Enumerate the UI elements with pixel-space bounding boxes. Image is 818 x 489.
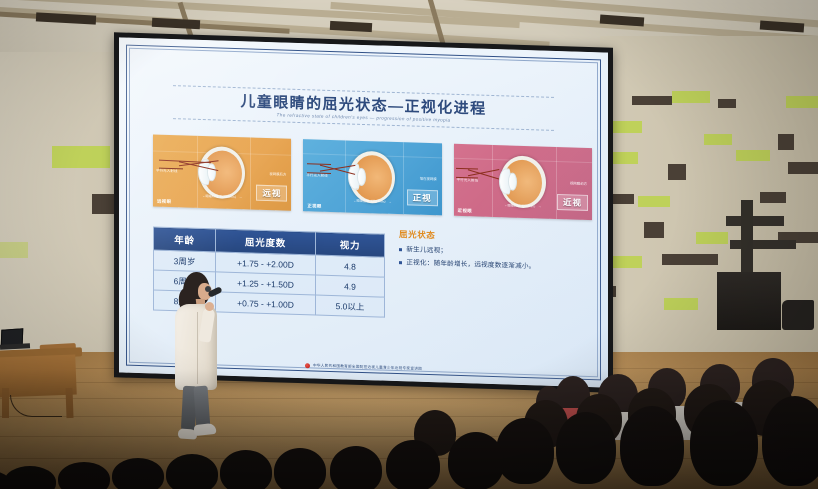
list-item — [496, 418, 554, 484]
column-header-acuity: 视力 — [316, 232, 385, 257]
cell-acuity: 4.9 — [316, 275, 385, 297]
list-item — [556, 412, 616, 484]
status-badge: 近视 — [557, 194, 588, 211]
panel-label-left: 平行光入射线 — [457, 177, 479, 183]
list-item — [690, 400, 758, 486]
list-item — [448, 432, 504, 489]
panel-name: 远视眼 — [157, 199, 171, 205]
list-item — [166, 454, 218, 489]
panel-label-right: 视网膜前方 — [570, 180, 587, 186]
list-item — [762, 396, 818, 486]
bag — [782, 300, 814, 330]
panel-myopia[interactable]: 平行光入射线 视网膜前方 眼轴较长（>24mm） 近视眼 近视 — [454, 144, 592, 220]
bullet-square-icon — [399, 261, 402, 264]
cell-acuity: 4.8 — [316, 255, 385, 277]
panel-name: 正视眼 — [307, 203, 321, 209]
microphone-head-icon — [205, 286, 211, 292]
column-header-age: 年龄 — [154, 227, 216, 252]
panel-name: 近视眼 — [458, 208, 472, 214]
panel-label-left: 平行光入射线 — [306, 172, 328, 178]
list-item-label: 正视化：随年龄增长，远视度数逐渐减小。 — [406, 259, 535, 273]
notes-block: 屈光状态 新生儿远视； 正视化：随年龄增长，远视度数逐渐减小。 — [399, 228, 579, 277]
status-badge: 远视 — [256, 185, 287, 202]
list-item — [58, 462, 110, 489]
panel-label-right: 落在视网膜 — [420, 176, 437, 182]
eye-diagram-panels: 平行光入射线 视网膜后方 眼轴较短（<23.5mm） 远视眼 远视 — [153, 134, 592, 220]
panel-emmetropia[interactable]: 平行光入射线 落在视网膜 眼轴正常（约24mm） 正视眼 正视 — [303, 139, 441, 215]
eye-diagram-icon — [349, 151, 395, 204]
left-wall-section — [0, 52, 128, 352]
status-badge: 正视 — [407, 189, 438, 206]
list-item — [386, 440, 440, 489]
cell-diopter: +0.75 - +1.00D — [216, 292, 316, 315]
column-header-diopter: 屈光度数 — [216, 229, 316, 255]
list-item — [274, 448, 326, 489]
list-item — [620, 406, 684, 486]
audience — [0, 354, 818, 489]
list-item — [330, 446, 382, 489]
panel-label-left: 平行光入射线 — [156, 168, 178, 174]
bullet-square-icon — [399, 248, 402, 251]
list-item — [220, 450, 272, 489]
list-item-label: 新生儿远视； — [406, 245, 447, 256]
panel-hyperopia[interactable]: 平行光入射线 视网膜后方 眼轴较短（<23.5mm） 远视眼 远视 — [153, 134, 291, 210]
eye-diagram-icon — [199, 146, 245, 199]
lecture-hall-photo: 儿童眼睛的屈光状态—正视化进程 The refractive state of … — [0, 0, 818, 489]
cell-age: 3周岁 — [154, 250, 216, 272]
eye-diagram-icon — [500, 155, 546, 208]
panel-label-right: 视网膜后方 — [269, 171, 286, 177]
list-item — [112, 458, 164, 489]
hand — [205, 302, 214, 311]
list-item: 正视化：随年龄增长，远视度数逐渐减小。 — [399, 258, 579, 274]
cell-acuity: 5.0以上 — [316, 295, 385, 317]
